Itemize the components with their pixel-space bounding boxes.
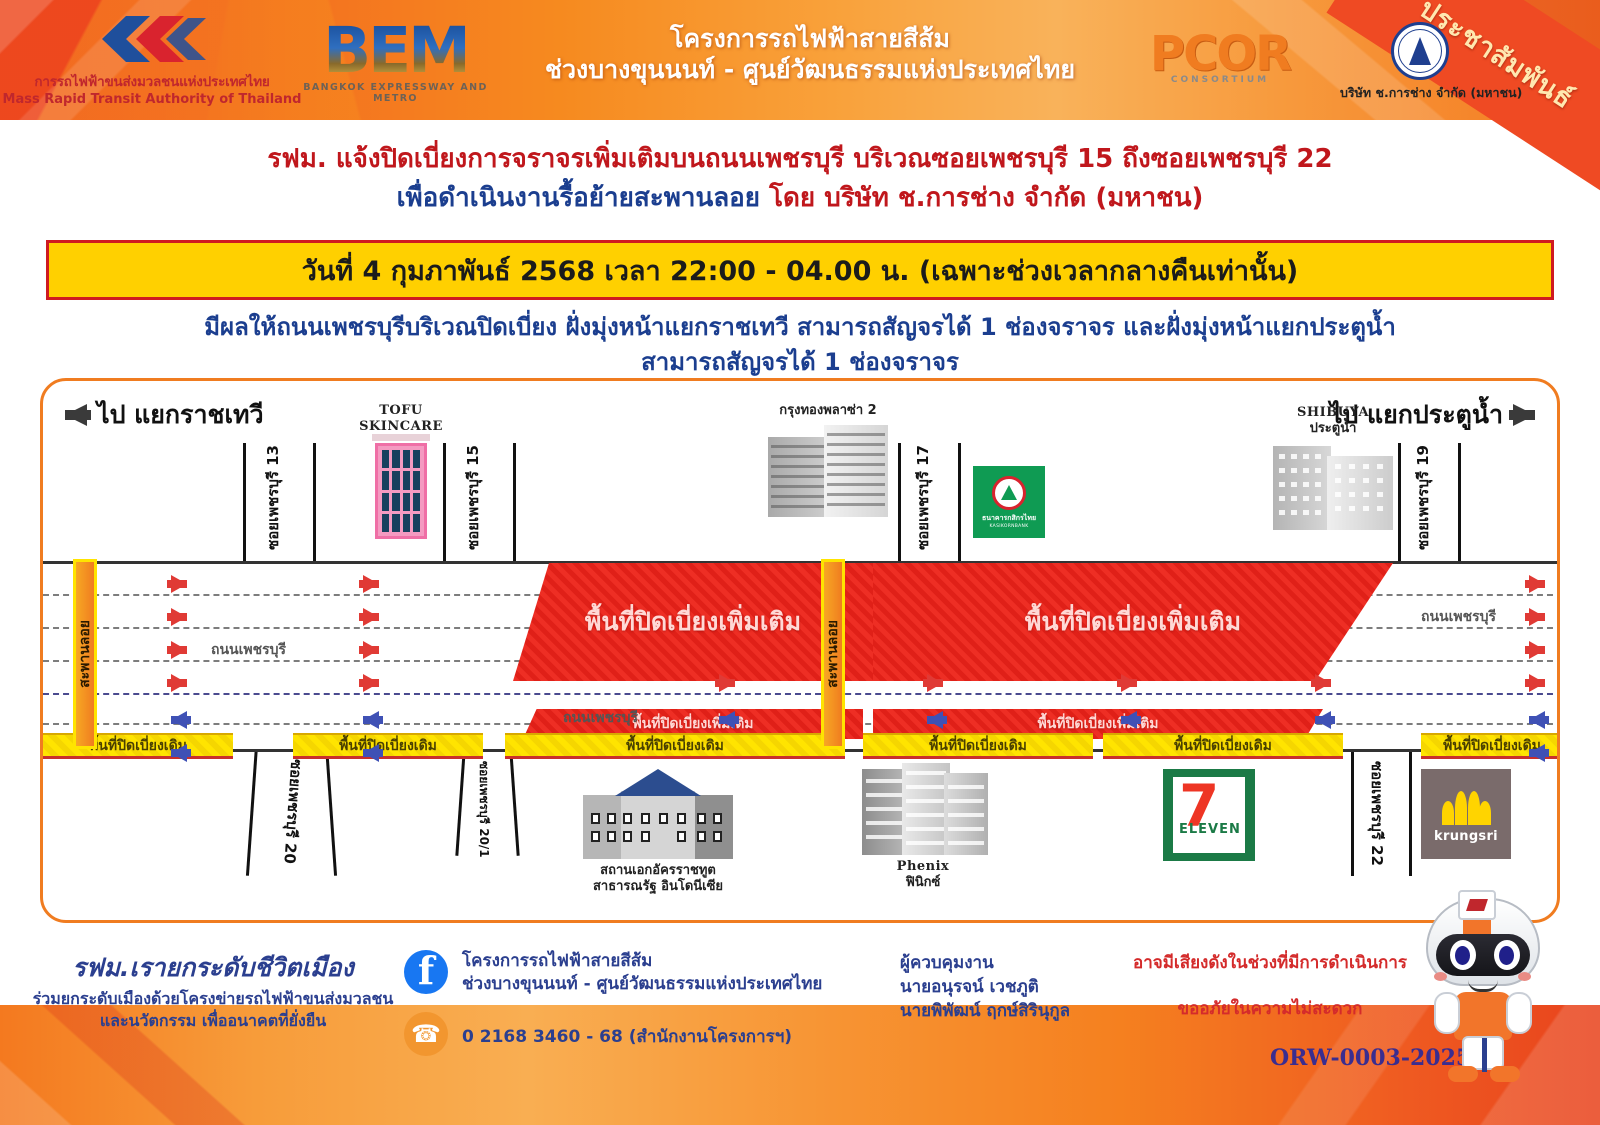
- phone-number: 0 2168 3460 - 68 (สำนักงานโครงการฯ): [462, 1012, 792, 1050]
- impact-note-line2: สามารถสัญจรได้ 1 ช่องจราจร: [0, 345, 1600, 380]
- traffic-arrow-east: [171, 674, 187, 692]
- lane-divider-center: [43, 693, 1560, 695]
- soi-20-1-line-left: [455, 746, 466, 856]
- bridge-label-west: สะพานลอย: [74, 620, 96, 688]
- direction-left-text: ไป แยกราชเทวี: [97, 395, 264, 435]
- contact-block: โครงการรถไฟฟ้าสายสีส้ม ช่วงบางขุนนนท์ - …: [404, 950, 864, 1072]
- closure-old-strip-3: พื้นที่ปิดเบี่ยงเดิม: [505, 733, 845, 759]
- poi-tofu-skincare: TOFU SKINCARE: [353, 403, 449, 539]
- poi-seven-eleven: 7 ELEVEN: [1163, 769, 1255, 861]
- tofu-building-icon: [375, 443, 427, 539]
- project-title-line2: ช่วงบางขุนนนท์ - ศูนย์วัฒนธรรมแห่งประเทศ…: [520, 55, 1100, 86]
- direction-label-ratchathewi: ไป แยกราชเทวี: [65, 395, 264, 435]
- slogan-main: รฟม.เรายกระดับชีวิตเมือง: [28, 948, 398, 988]
- poi-embassy-line2: สาธารณรัฐ อินโดนีเซีย: [553, 879, 763, 895]
- mascot-eye-right: [1494, 940, 1520, 970]
- closure-new-area-west: พื้นที่ปิดเบี่ยงเพิ่มเติม: [513, 563, 873, 681]
- soi-20-line-right: [325, 746, 337, 876]
- seven-eleven-logo-icon: 7 ELEVEN: [1163, 769, 1255, 861]
- traffic-arrow-west: [1121, 711, 1137, 729]
- noise-warning-block: อาจมีเสียงดังในช่วงที่มีการดำเนินการ ขออ…: [1110, 952, 1430, 1022]
- traffic-arrow-east: [927, 674, 943, 692]
- kbank-label-th: ธนาคารกสิกรไทย: [982, 513, 1036, 524]
- traffic-arrow-east: [363, 608, 379, 626]
- mascot-cheek-right: [1518, 972, 1531, 981]
- poi-shibuya-pratunam: SHIBUYA ประตูน้ำ: [1243, 405, 1423, 530]
- facebook-line1: โครงการรถไฟฟ้าสายสีส้ม: [462, 951, 652, 971]
- kasikornbank-logo-icon: ธนาคารกสิกรไทย KASIKORNBANK: [973, 466, 1045, 538]
- pedestrian-bridge-east: สะพานลอย: [821, 559, 845, 749]
- poi-krungthong-label: กรุงทองพลาซ่า 2: [743, 403, 913, 419]
- ch-karnchang-logo: บริษัท ช.การช่าง จำกัด (มหาชน): [1340, 22, 1500, 103]
- slogan-sub-line2: และนวัตกรรม เพื่ออนาคตที่ยั่งยืน: [28, 1010, 398, 1032]
- soi-label-22: ซอยเพชรบุรี 22: [1365, 761, 1389, 866]
- traffic-arrow-west: [927, 711, 943, 729]
- traffic-arrow-west: [171, 744, 187, 762]
- noise-warning-line2: ขออภัยในความไม่สะดวก: [1110, 998, 1430, 1022]
- traffic-arrow-east: [363, 575, 379, 593]
- poi-phenix-line1: Phenix: [833, 859, 1013, 875]
- closure-old-label-5: พื้นที่ปิดเบี่ยงเดิม: [1174, 735, 1272, 757]
- traffic-arrow-west: [171, 711, 187, 729]
- soi-label-17: ซอยเพชรบุรี 17: [911, 445, 935, 550]
- closure-old-label-6: พื้นที่ปิดเบี่ยงเดิม: [1443, 735, 1541, 757]
- supervisor-block: ผู้ควบคุมงาน นายอนุรจน์ เวชภูติ นายพิพัฒ…: [900, 952, 1070, 1023]
- soi-label-20: ซอยเพชรบุรี 20: [277, 758, 308, 864]
- krungsri-label: krungsri: [1434, 829, 1498, 844]
- phone-contact-row[interactable]: 0 2168 3460 - 68 (สำนักงานโครงการฯ): [404, 1012, 864, 1056]
- page-footer: รฟม.เรายกระดับชีวิตเมือง ร่วมยกระดับเมือ…: [0, 930, 1600, 1125]
- traffic-arrow-east: [171, 575, 187, 593]
- pcor-logo: PCOR CONSORTIUM: [1130, 30, 1310, 92]
- supervisor-name-1: นายอนุรจน์ เวชภูติ: [900, 976, 1070, 1000]
- closure-old-strip-2: พื้นที่ปิดเบี่ยงเดิม: [293, 733, 483, 759]
- facebook-line2: ช่วงบางขุนนนท์ - ศูนย์วัฒนธรรมแห่งประเทศ…: [462, 974, 822, 994]
- traffic-arrow-west: [719, 711, 735, 729]
- poi-shibuya-line2: ประตูน้ำ: [1243, 421, 1423, 437]
- impact-note-line1: มีผลให้ถนนเพชรบุรีบริเวณปิดเบี่ยง ฝั่งมุ…: [0, 310, 1600, 345]
- mrta-logo-english: Mass Rapid Transit Authority of Thailand: [3, 92, 302, 107]
- shibuya-building-icon: [1273, 442, 1393, 530]
- notice-title-line2: เพื่อดำเนินงานรื้อย้ายสะพานลอย โดย บริษั…: [0, 179, 1600, 218]
- mrta-mark-icon: [92, 10, 212, 68]
- traffic-arrow-east: [171, 641, 187, 659]
- traffic-arrow-east: [1529, 674, 1545, 692]
- poi-tofu-line1: TOFU: [353, 403, 449, 419]
- krungthong-building-icon: [768, 425, 888, 517]
- bem-subtext: BANGKOK EXPRESSWAY AND METRO: [288, 82, 503, 104]
- soi-22-line-left: [1351, 746, 1354, 876]
- pcor-wordmark: PCOR: [1130, 30, 1310, 78]
- seven-eleven-word: ELEVEN: [1179, 822, 1241, 837]
- mrta-mascot: [1408, 888, 1558, 1103]
- mascot-arm-left: [1434, 992, 1460, 1034]
- page-header: การรถไฟฟ้าขนส่งมวลชนแห่งประเทศไทย Mass R…: [0, 0, 1600, 120]
- pedestrian-bridge-west: สะพานลอย: [73, 559, 97, 749]
- mrta-slogan: รฟม.เรายกระดับชีวิตเมือง ร่วมยกระดับเมือ…: [28, 948, 398, 1031]
- bem-logo: BEM BANGKOK EXPRESSWAY AND METRO: [288, 22, 503, 102]
- arrow-left-icon: [65, 404, 87, 426]
- traffic-arrow-east: [1529, 608, 1545, 626]
- soi-22-line-right: [1409, 746, 1412, 876]
- mascot-legs: [1462, 1036, 1504, 1070]
- phone-icon[interactable]: [404, 1012, 448, 1056]
- traffic-arrow-east: [1121, 674, 1137, 692]
- notice-block: รฟม. แจ้งปิดเบี่ยงการจราจรเพิ่มเติมบนถนน…: [0, 140, 1600, 218]
- closure-old-strip-5: พื้นที่ปิดเบี่ยงเดิม: [1103, 733, 1343, 759]
- road-name-label-2: ถนนเพชรบุรี: [563, 707, 638, 729]
- ch-karnchang-name: บริษัท ช.การช่าง จำกัด (มหาชน): [1340, 83, 1500, 103]
- date-time-banner: วันที่ 4 กุมภาพันธ์ 2568 เวลา 22:00 - 04…: [46, 240, 1554, 300]
- supervisor-name-2: นายพิพัฒน์ ฤกษ์สิรินุกูล: [900, 1000, 1070, 1024]
- traffic-arrow-west: [1315, 711, 1331, 729]
- poi-indonesian-embassy: สถานเอกอัครราชทูต สาธารณรัฐ อินโดนีเซีย: [553, 769, 763, 894]
- closure-new-area-east: พื้นที่ปิดเบี่ยงเพิ่มเติม: [873, 563, 1393, 681]
- soi-13-line-right: [313, 443, 316, 563]
- mascot-arm-right: [1506, 992, 1532, 1034]
- traffic-arrow-west: [363, 744, 379, 762]
- soi-15-line-right: [513, 443, 516, 563]
- soi-label-15: ซอยเพชรบุรี 15: [461, 445, 485, 550]
- poi-krungthong-plaza: กรุงทองพลาซ่า 2: [743, 403, 913, 517]
- traffic-arrow-west: [363, 711, 379, 729]
- krungsri-logo-icon: krungsri: [1421, 769, 1511, 859]
- traffic-arrow-east: [171, 608, 187, 626]
- soi-13-line-left: [243, 443, 246, 563]
- road-name-label-1: ถนนเพชรบุรี: [211, 639, 286, 661]
- tofu-building-roof: [372, 434, 430, 441]
- traffic-arrow-west: [1529, 744, 1545, 762]
- kbank-label-en: KASIKORNBANK: [990, 524, 1029, 529]
- notice-title-line1: รฟม. แจ้งปิดเบี่ยงการจราจรเพิ่มเติมบนถนน…: [0, 140, 1600, 179]
- soi-19-line-right: [1458, 443, 1461, 563]
- notice-title-line2-red: โดย บริษัท ช.การช่าง จำกัด (มหาชน): [769, 183, 1203, 213]
- ch-karnchang-seal-icon: [1391, 22, 1449, 80]
- closure-old-label-4: พื้นที่ปิดเบี่ยงเดิม: [929, 735, 1027, 757]
- road-name-label-3: ถนนเพชรบุรี: [1421, 606, 1496, 628]
- closure-old-strip-4: พื้นที่ปิดเบี่ยงเดิม: [863, 733, 1093, 759]
- traffic-arrow-east: [1315, 674, 1331, 692]
- arrow-right-icon: [1513, 404, 1535, 426]
- soi-label-13: ซอยเพชรบุรี 13: [261, 445, 285, 550]
- poi-phenix: Phenix ฟินิกซ์: [833, 763, 1013, 890]
- soi-20-line-left: [246, 746, 258, 876]
- mrta-logo-thai: การรถไฟฟ้าขนส่งมวลชนแห่งประเทศไทย: [34, 70, 269, 92]
- mrta-logo: การรถไฟฟ้าขนส่งมวลชนแห่งประเทศไทย Mass R…: [22, 10, 282, 112]
- impact-note: มีผลให้ถนนเพชรบุรีบริเวณปิดเบี่ยง ฝั่งมุ…: [0, 310, 1600, 380]
- soi-17-line-right: [958, 443, 961, 563]
- poi-shibuya-line1: SHIBUYA: [1243, 405, 1423, 421]
- bem-wordmark: BEM: [288, 22, 503, 80]
- poi-krungsri-bank: krungsri: [1421, 769, 1511, 859]
- bridge-label-east: สะพานลอย: [822, 620, 844, 688]
- closure-old-label-2: พื้นที่ปิดเบี่ยงเดิม: [339, 735, 437, 757]
- mascot-foot-left: [1448, 1066, 1478, 1082]
- traffic-arrow-east: [1529, 641, 1545, 659]
- poi-kasikorn-bank: ธนาคารกสิกรไทย KASIKORNBANK: [973, 466, 1045, 538]
- poi-tofu-line2: SKINCARE: [353, 419, 449, 435]
- mascot-helmet-badge: [1458, 890, 1496, 920]
- traffic-arrow-east: [363, 641, 379, 659]
- traffic-diversion-map: ไป แยกราชเทวี ไป แยกประตูน้ำ ซอยเพชรบุรี…: [40, 378, 1560, 923]
- facebook-page-name: โครงการรถไฟฟ้าสายสีส้ม ช่วงบางขุนนนท์ - …: [462, 950, 822, 996]
- traffic-arrow-east: [719, 674, 735, 692]
- facebook-contact-row[interactable]: โครงการรถไฟฟ้าสายสีส้ม ช่วงบางขุนนนท์ - …: [404, 950, 864, 996]
- poi-phenix-line2: ฟินิกซ์: [833, 875, 1013, 891]
- soi-label-20-1: ซอยเพชรบุรี 20/1: [475, 761, 494, 858]
- traffic-arrow-west: [1529, 711, 1545, 729]
- mascot-foot-right: [1490, 1066, 1520, 1082]
- closure-new-label-west: พื้นที่ปิดเบี่ยงเพิ่มเติม: [585, 602, 801, 642]
- embassy-building-icon: [583, 769, 733, 859]
- noise-warning-line1: อาจมีเสียงดังในช่วงที่มีการดำเนินการ: [1110, 952, 1430, 976]
- mascot-mouth: [1468, 980, 1498, 992]
- closure-old-label-3: พื้นที่ปิดเบี่ยงเดิม: [626, 735, 724, 757]
- date-time-text: วันที่ 4 กุมภาพันธ์ 2568 เวลา 22:00 - 04…: [302, 249, 1299, 292]
- facebook-icon[interactable]: [404, 950, 448, 994]
- slogan-sub-line1: ร่วมยกระดับเมืองด้วยโครงข่ายรถไฟฟ้าขนส่ง…: [28, 988, 398, 1010]
- closure-new-label-east: พื้นที่ปิดเบี่ยงเพิ่มเติม: [1025, 602, 1241, 642]
- traffic-arrow-east: [363, 674, 379, 692]
- project-title-line1: โครงการรถไฟฟ้าสายสีส้ม: [520, 24, 1100, 55]
- mascot-cheek-left: [1434, 972, 1447, 981]
- soi-20-1-line-right: [509, 746, 520, 856]
- closure-old-strip-1: พื้นที่ปิดเบี่ยงเดิม: [43, 733, 233, 759]
- notice-title-line2-blue: เพื่อดำเนินงานรื้อย้ายสะพานลอย: [397, 183, 760, 213]
- phenix-building-icon: [858, 763, 988, 855]
- traffic-arrow-east: [1529, 575, 1545, 593]
- poi-embassy-line1: สถานเอกอัครราชทูต: [553, 863, 763, 879]
- supervisor-title: ผู้ควบคุมงาน: [900, 952, 1070, 976]
- project-title: โครงการรถไฟฟ้าสายสีส้ม ช่วงบางขุนนนท์ - …: [520, 24, 1100, 85]
- mascot-eye-left: [1450, 940, 1476, 970]
- mascot-body: [1454, 992, 1512, 1040]
